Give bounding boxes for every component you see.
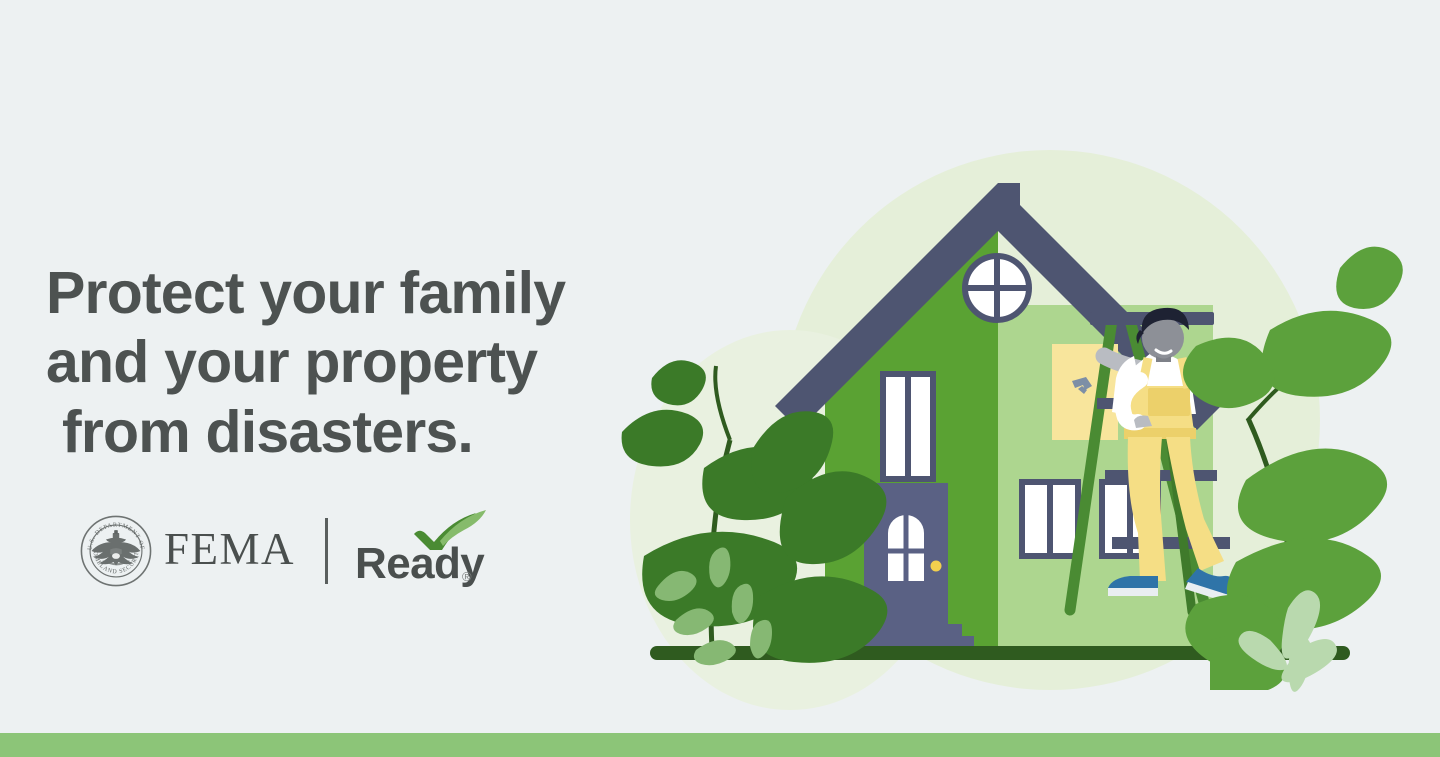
ready-campaign-banner: Protect your family and your property fr…	[0, 0, 1440, 757]
dhs-seal-icon: U.S. DEPARTMENT OF HOMELAND SECURITY	[80, 515, 152, 587]
logo-divider	[325, 518, 328, 584]
ready-logo[interactable]: Ready ®	[355, 512, 490, 590]
headline-line-1: Protect your family	[46, 259, 666, 328]
page-title: Protect your family and your property fr…	[46, 259, 666, 467]
headline-line-2: and your property	[46, 328, 666, 397]
lower-right-window-left	[1022, 482, 1078, 556]
footer-accent-bar	[0, 733, 1440, 757]
upper-left-window	[883, 374, 933, 479]
house-repair-illustration	[600, 0, 1440, 733]
headline-line-3: from disasters.	[46, 398, 666, 467]
round-gable-window	[965, 256, 1029, 320]
fema-wordmark: FEMA	[164, 527, 295, 576]
registered-trademark-symbol: ®	[462, 570, 472, 583]
fema-ready-logo-lockup[interactable]: U.S. DEPARTMENT OF HOMELAND SECURITY FEM…	[80, 512, 490, 590]
